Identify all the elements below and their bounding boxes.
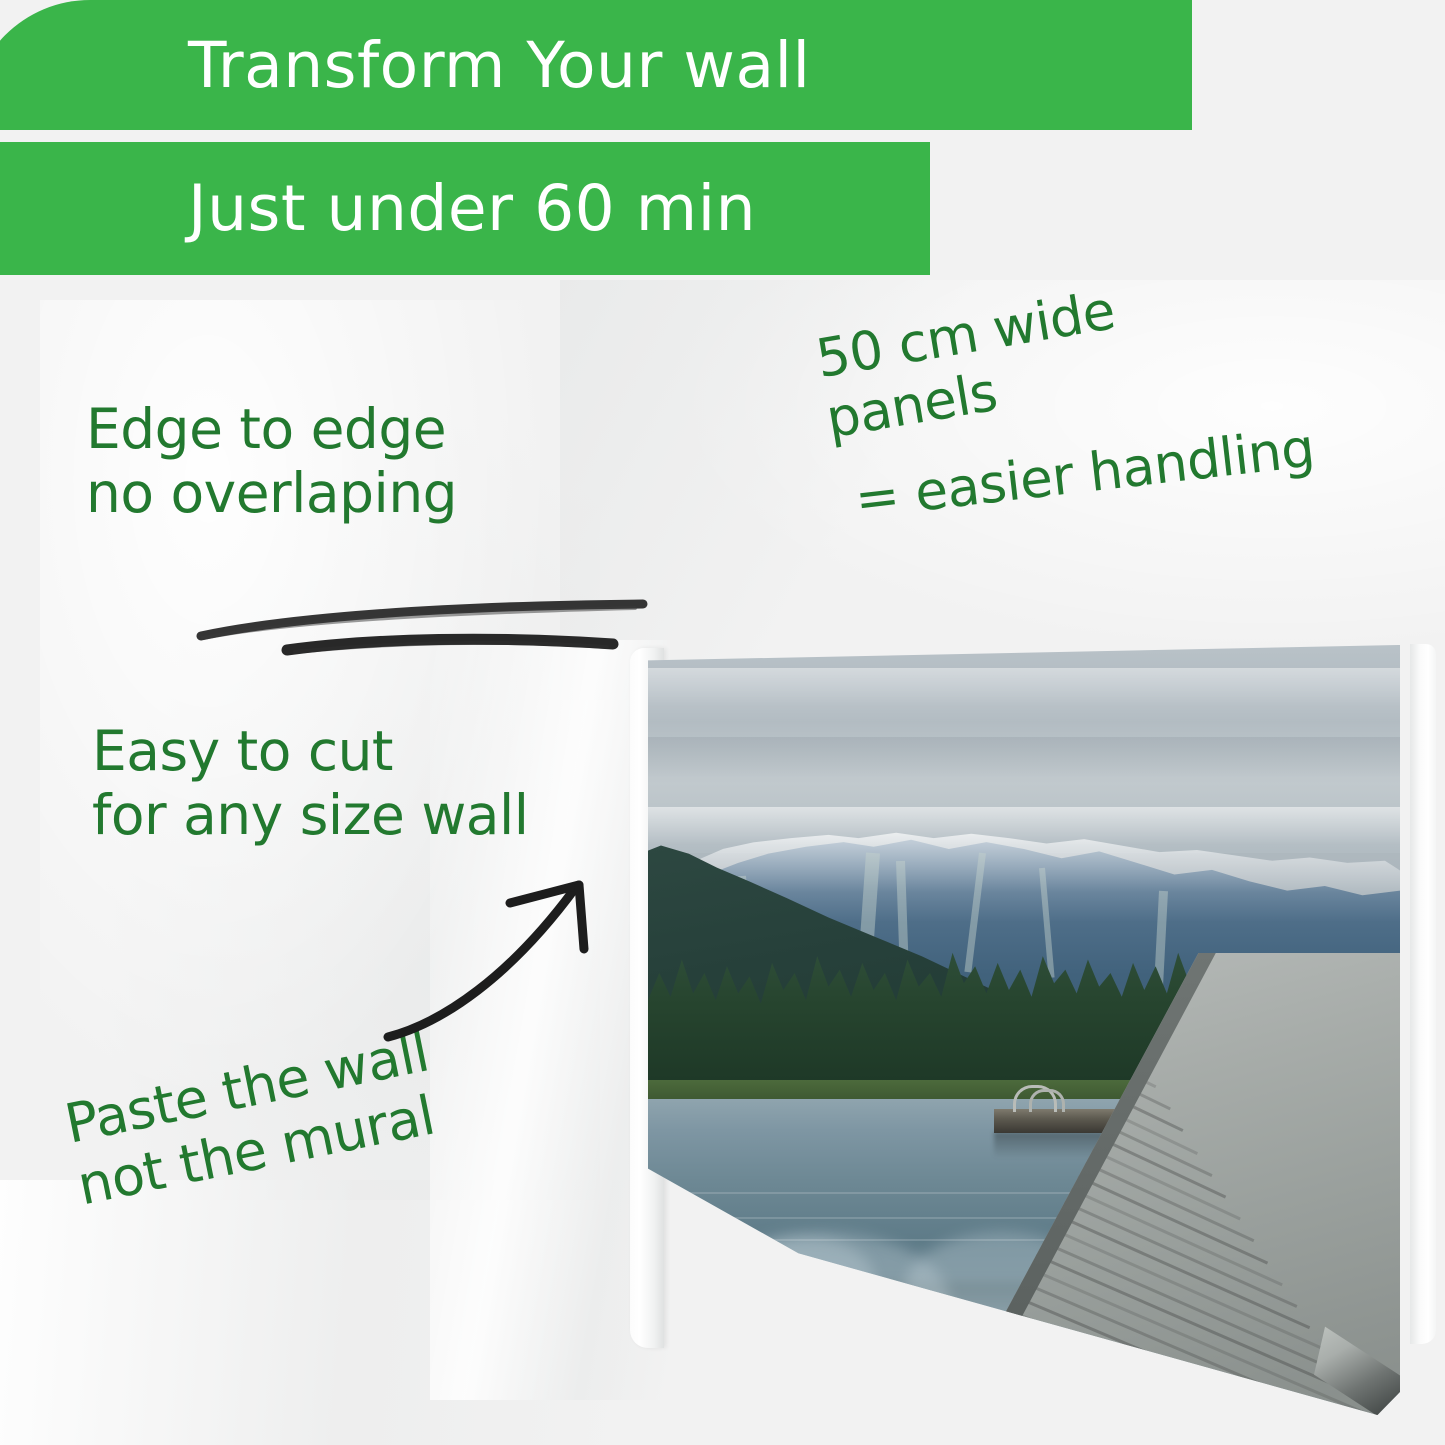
infographic-canvas: Transform Your wall Just under 60 min Ed…: [0, 0, 1445, 1445]
note-edge-to-edge: Edge to edge no overlaping: [86, 398, 457, 526]
cloud-band: [648, 737, 1400, 783]
cloud-band: [648, 807, 1400, 846]
paper-curl-right: [1410, 644, 1436, 1344]
headline-banner: Transform Your wall: [0, 0, 1192, 130]
note-paste-the-wall: Paste the wall not the mural: [60, 1021, 447, 1217]
dock-plank: [991, 1251, 1368, 1415]
water-reflection: [738, 1238, 873, 1320]
paper-texture: [0, 1180, 640, 1445]
cloud-band: [648, 668, 1400, 722]
curved-arrow-icon: [380, 865, 610, 1050]
swim-ladder-icon: [1029, 1089, 1065, 1112]
wallpaper-mural-photo: [630, 630, 1420, 1445]
lake-landscape-image: [648, 645, 1400, 1415]
dock-plank: [1037, 1405, 1400, 1415]
underline-icon: [195, 592, 650, 664]
time-banner: Just under 60 min: [0, 142, 930, 275]
headline-banner-label: Transform Your wall: [188, 29, 811, 102]
note-panel-width: 50 cm wide panels: [812, 280, 1129, 451]
time-banner-label: Just under 60 min: [188, 172, 756, 245]
note-easy-to-cut: Easy to cut for any size wall: [92, 720, 529, 848]
